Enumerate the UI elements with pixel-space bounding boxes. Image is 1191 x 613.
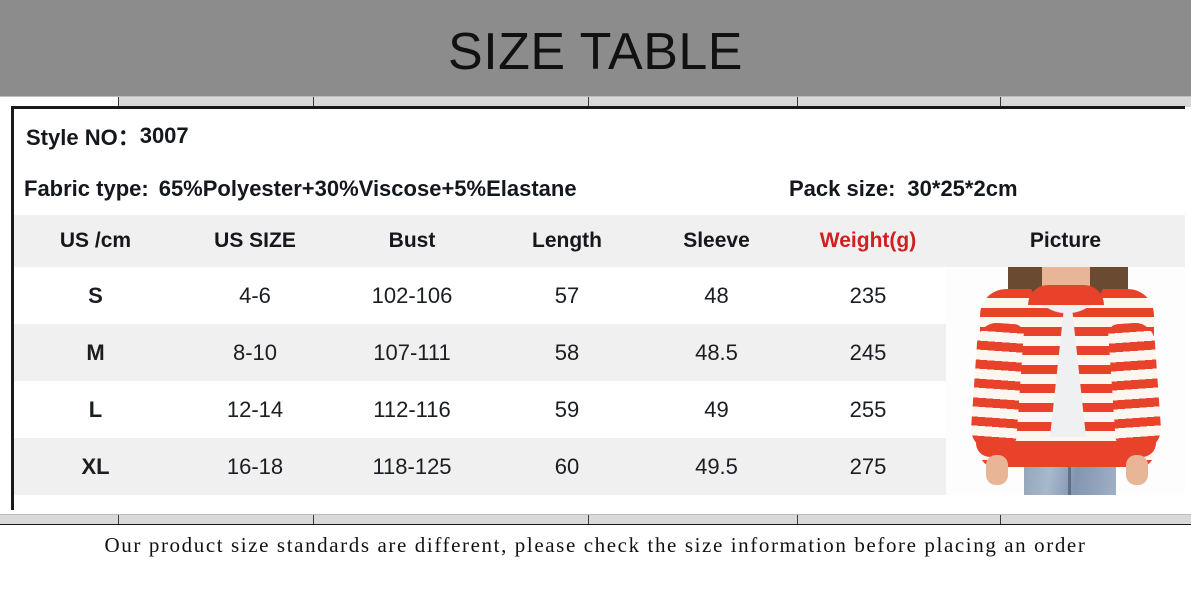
size-table-header-row: US /cm US SIZE Bust Length Sleeve Weight… [14, 215, 1185, 267]
table-row: S 4-6 102-106 57 48 235 [14, 267, 1185, 324]
cardigan-collar [1028, 285, 1104, 305]
cell-weight: 275 [790, 438, 946, 495]
fabric-type-value: 65%Polyester+30%Viscose+5%Elastane [149, 176, 577, 202]
size-table-body: S 4-6 102-106 57 48 235 [14, 267, 1185, 495]
cell-length: 59 [491, 381, 643, 438]
column-header-sleeve: Sleeve [643, 215, 790, 267]
column-header-length: Length [491, 215, 643, 267]
cardigan-sleeve-left [970, 322, 1025, 453]
cell-us-size: 12-14 [177, 381, 333, 438]
cell-length: 58 [491, 324, 643, 381]
pack-size-group: Pack size: 30*25*2cm [789, 163, 1018, 215]
model-hand-right [1126, 455, 1148, 485]
size-table: US /cm US SIZE Bust Length Sleeve Weight… [14, 215, 1185, 495]
cardigan-sleeve-right [1108, 322, 1163, 453]
striped-cardigan-photo [946, 267, 1185, 495]
cell-size: M [14, 324, 177, 381]
cell-us-size: 8-10 [177, 324, 333, 381]
cell-sleeve: 48.5 [643, 324, 790, 381]
fabric-pack-row: Fabric type: 65%Polyester+30%Viscose+5%E… [14, 163, 1185, 215]
model-hand-left [986, 455, 1008, 485]
top-banner: SIZE TABLE [0, 0, 1191, 96]
column-header-us-cm: US /cm [14, 215, 177, 267]
pack-size-label: Pack size: [789, 176, 895, 202]
fabric-type-label: Fabric type: [14, 176, 149, 202]
cell-bust: 102-106 [333, 267, 491, 324]
pack-size-value: 30*25*2cm [895, 176, 1017, 202]
cell-bust: 112-116 [333, 381, 491, 438]
column-header-weight: Weight(g) [790, 215, 946, 267]
cell-sleeve: 49 [643, 381, 790, 438]
cell-weight: 235 [790, 267, 946, 324]
cell-sleeve: 49.5 [643, 438, 790, 495]
column-header-picture: Picture [946, 215, 1185, 267]
footer-note: Our product size standards are different… [0, 530, 1191, 560]
page-title: SIZE TABLE [0, 22, 1191, 82]
cell-size: XL [14, 438, 177, 495]
cell-us-size: 4-6 [177, 267, 333, 324]
size-table-head: US /cm US SIZE Bust Length Sleeve Weight… [14, 215, 1185, 267]
cell-bust: 107-111 [333, 324, 491, 381]
cell-length: 60 [491, 438, 643, 495]
cell-bust: 118-125 [333, 438, 491, 495]
column-header-us-size: US SIZE [177, 215, 333, 267]
cell-size: S [14, 267, 177, 324]
cell-picture [946, 267, 1185, 495]
style-no-value: 3007 [140, 123, 189, 149]
size-table-sheet: Style NO： 3007 Fabric type: 65%Polyester… [11, 106, 1185, 510]
cell-us-size: 16-18 [177, 438, 333, 495]
sheet-bottom-divider [0, 524, 1191, 525]
style-no-label: Style NO： [14, 120, 140, 152]
cell-weight: 255 [790, 381, 946, 438]
cell-size: L [14, 381, 177, 438]
cell-length: 57 [491, 267, 643, 324]
cell-sleeve: 48 [643, 267, 790, 324]
cell-weight: 245 [790, 324, 946, 381]
style-no-row: Style NO： 3007 [14, 109, 1185, 163]
column-header-bust: Bust [333, 215, 491, 267]
